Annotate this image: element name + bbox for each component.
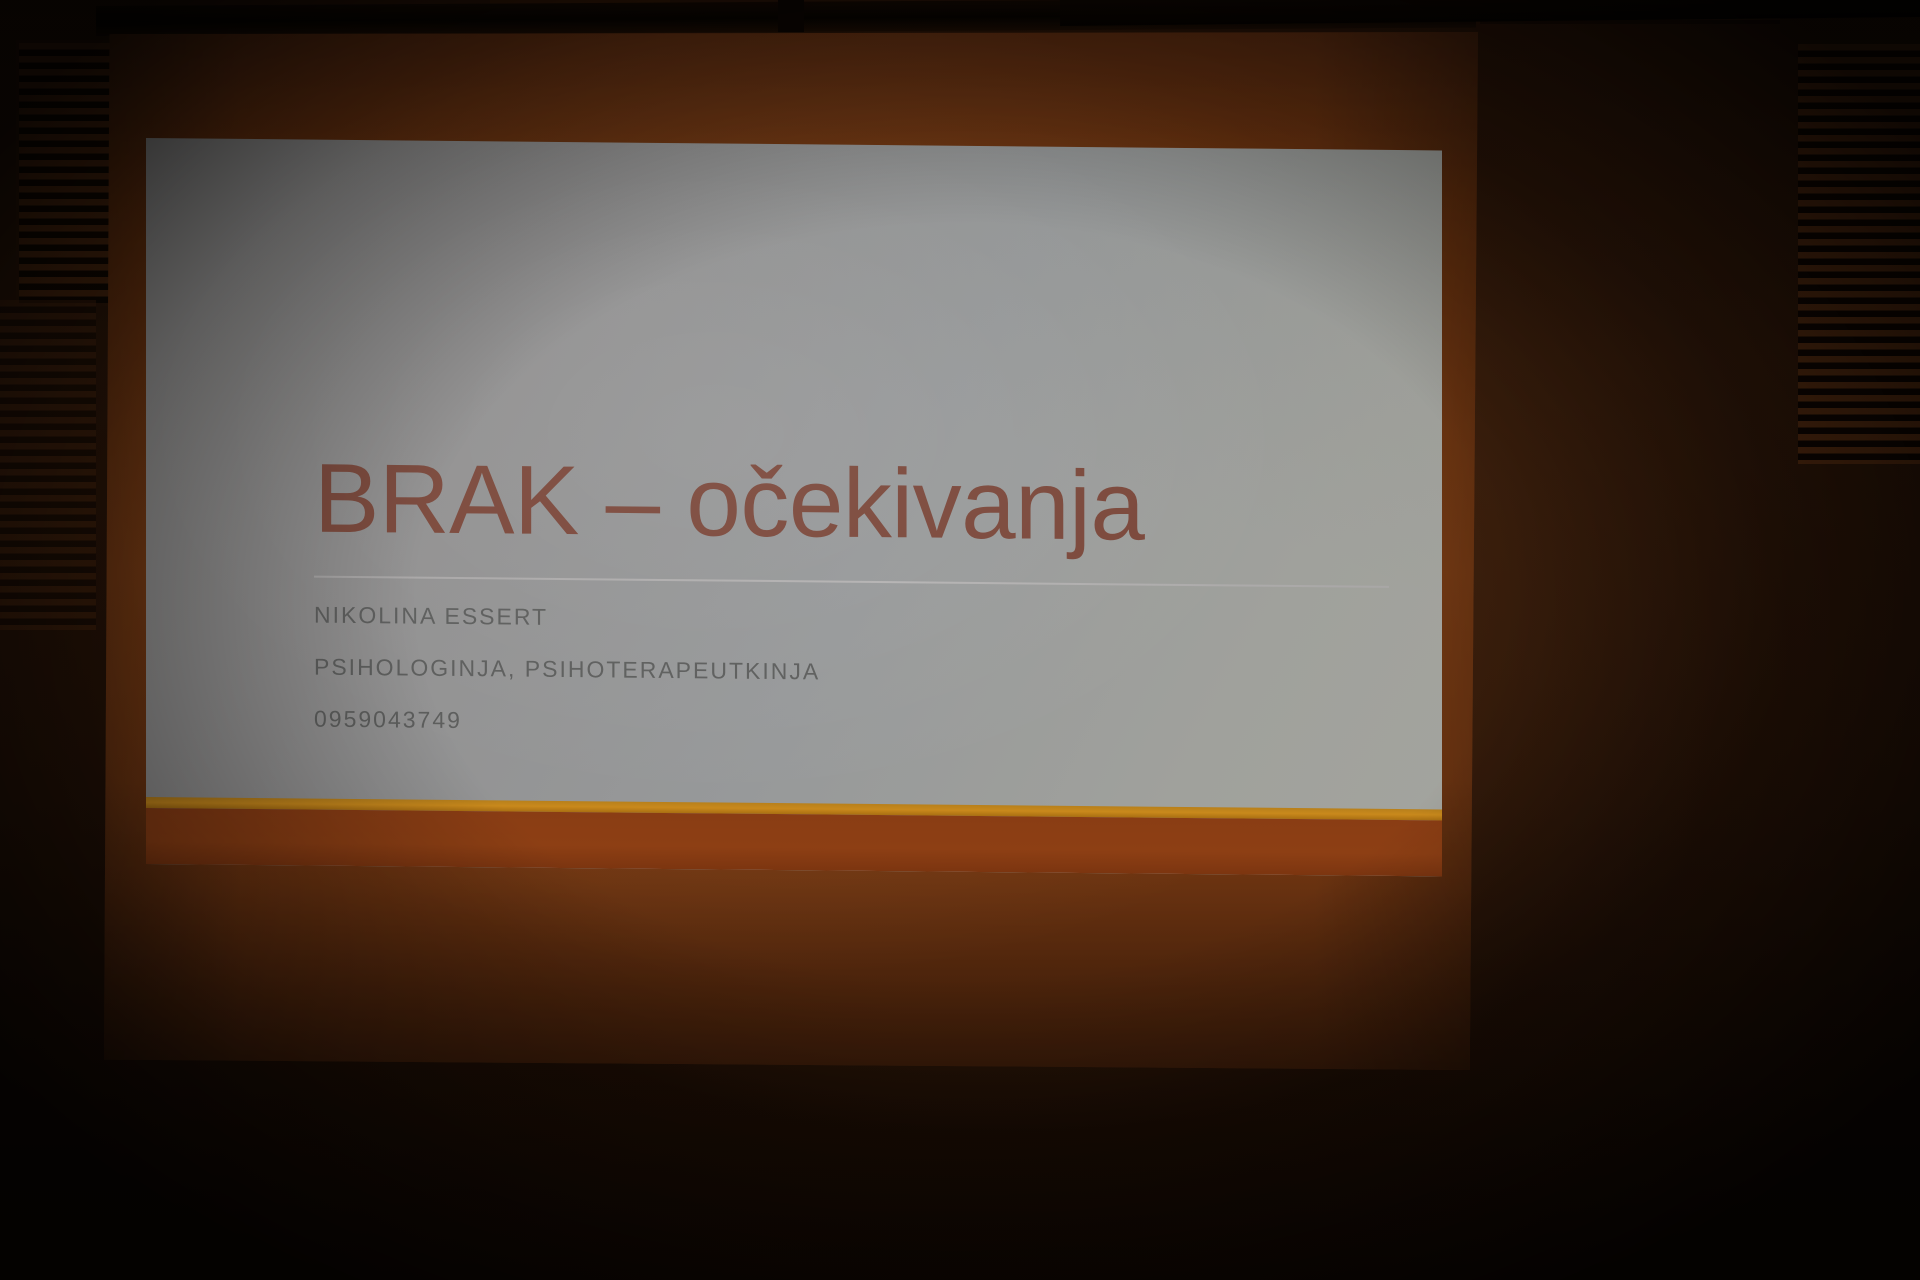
projected-slide: BRAK – očekivanja NIKOLINA ESSERT PSIHOL… (146, 138, 1442, 876)
screen-mount-bracket (778, 0, 804, 32)
window-blinds-right (1798, 44, 1920, 464)
page-title: BRAK – očekivanja (314, 448, 1394, 560)
slide-canvas: BRAK – očekivanja NIKOLINA ESSERT PSIHOL… (146, 138, 1442, 876)
slide-subtitle-list: NIKOLINA ESSERT PSIHOLOGINJA, PSIHOTERAP… (314, 604, 1394, 741)
subtitle-presenter-role: PSIHOLOGINJA, PSIHOTERAPEUTKINJA (314, 656, 1394, 689)
window-blinds-left-lower (0, 300, 96, 630)
slide-title-block: BRAK – očekivanja NIKOLINA ESSERT PSIHOL… (314, 448, 1394, 741)
subtitle-presenter-name: NIKOLINA ESSERT (314, 604, 1394, 637)
subtitle-presenter-phone: 0959043749 (314, 708, 1394, 741)
presentation-room-photo: BRAK – očekivanja NIKOLINA ESSERT PSIHOL… (0, 0, 1920, 1280)
title-divider (314, 576, 1389, 588)
